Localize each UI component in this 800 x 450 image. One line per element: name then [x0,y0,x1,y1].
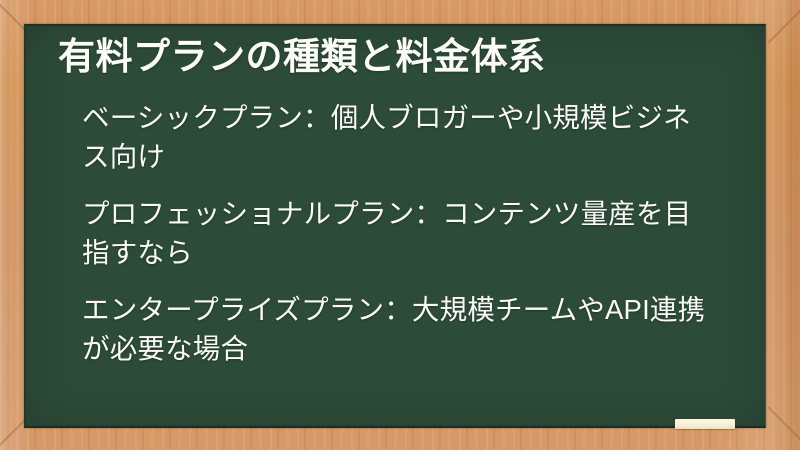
chalk-piece-icon [675,419,735,429]
plan-list: ベーシックプラン：個人ブロガーや小規模ビジネス向け プロフェッショナルプラン：コ… [58,98,745,368]
frame-miter-top-right [767,2,800,43]
slide-title: 有料プランの種類と料金体系 [58,34,745,80]
list-item: プロフェッショナルプラン：コンテンツ量産を目指すなら [82,194,709,272]
list-item: エンタープライズプラン：大規模チームやAPI連携が必要な場合 [82,290,709,368]
chalkboard-content: 有料プランの種類と料金体系 ベーシックプラン：個人ブロガーや小規模ビジネス向け … [26,26,765,426]
list-item: ベーシックプラン：個人ブロガーや小規模ビジネス向け [82,98,709,176]
chalkboard: 有料プランの種類と料金体系 ベーシックプラン：個人ブロガーや小規模ビジネス向け … [24,24,766,428]
chalkboard-slide: 有料プランの種類と料金体系 ベーシックプラン：個人ブロガーや小規模ビジネス向け … [0,0,800,450]
frame-miter-bottom-right [767,406,800,447]
